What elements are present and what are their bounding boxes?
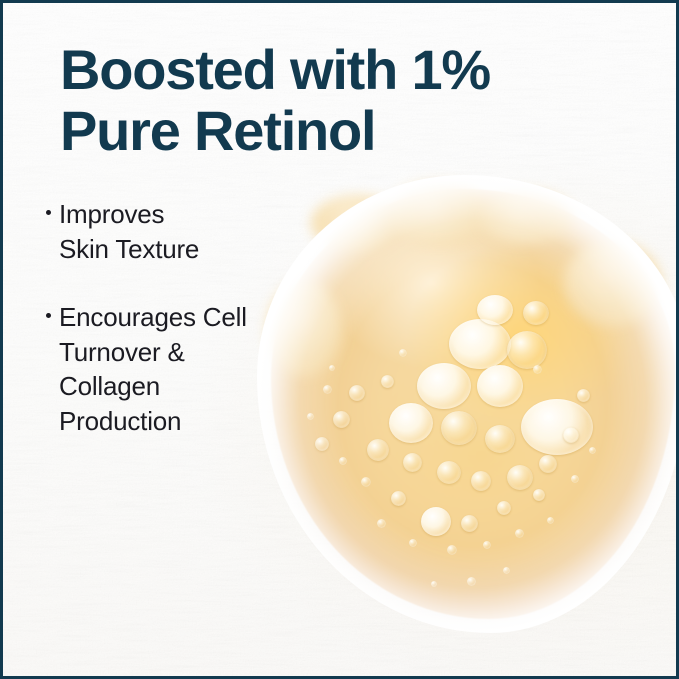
list-item: Encourages Cell Turnover & Collagen Prod… [43,300,305,438]
puddle-lobe [477,191,573,245]
serum-bubble [477,365,523,407]
serum-bubble [409,539,417,547]
serum-bubble [497,501,511,515]
serum-bubble [307,413,314,420]
serum-bubble [533,489,545,501]
serum-bubble [323,385,332,394]
bullet-dot-icon [46,210,51,215]
serum-bubble [389,403,433,443]
benefit-text: Improves Skin Texture [59,197,199,266]
serum-droplet-photo [271,189,679,629]
serum-bubble [399,349,407,357]
serum-bubble [333,411,350,428]
serum-bubble [503,567,510,574]
serum-bubble [471,471,491,491]
serum-bubble [589,447,596,454]
serum-bubble [447,545,457,555]
serum-bubble [507,465,533,490]
serum-bubble [403,453,422,472]
serum-bubble [521,399,593,455]
serum-bubble [515,529,524,538]
serum-bubble [539,455,557,473]
puddle-lobe [387,183,491,245]
serum-bubble [377,519,386,528]
serum-bubble [547,517,554,524]
serum-bubble [361,477,371,487]
serum-bubble [391,491,406,506]
page-title: Boosted with 1% Pure Retinol [60,39,580,161]
serum-bubble [467,577,476,586]
serum-bubble [315,437,329,451]
product-feature-card: Boosted with 1% Pure Retinol Improves Sk… [0,0,679,679]
serum-bubble [449,319,511,369]
benefit-text: Encourages Cell Turnover & Collagen Prod… [59,300,247,438]
serum-bubble [485,425,515,453]
serum-bubble [461,515,478,532]
serum-bubble [577,389,590,402]
serum-bubble [441,411,477,445]
serum-bubble [339,457,347,465]
serum-bubble [507,331,547,369]
serum-bubble [431,581,437,587]
serum-bubble [437,461,461,484]
puddle-lobe [563,241,661,327]
serum-bubble [483,541,491,549]
serum-bubble [563,427,579,443]
serum-bubble [523,301,549,325]
serum-bubble [349,385,365,401]
serum-bubble [381,375,394,388]
serum-bubble [329,365,335,371]
serum-bubble [571,475,579,483]
serum-bubble [477,295,513,325]
list-item: Improves Skin Texture [43,197,305,266]
serum-bubble [367,439,389,461]
serum-bubble [533,365,542,374]
serum-bubble [417,363,471,409]
bullet-dot-icon [46,313,51,318]
serum-bubble [421,507,451,536]
benefits-list: Improves Skin Texture Encourages Cell Tu… [43,197,305,472]
